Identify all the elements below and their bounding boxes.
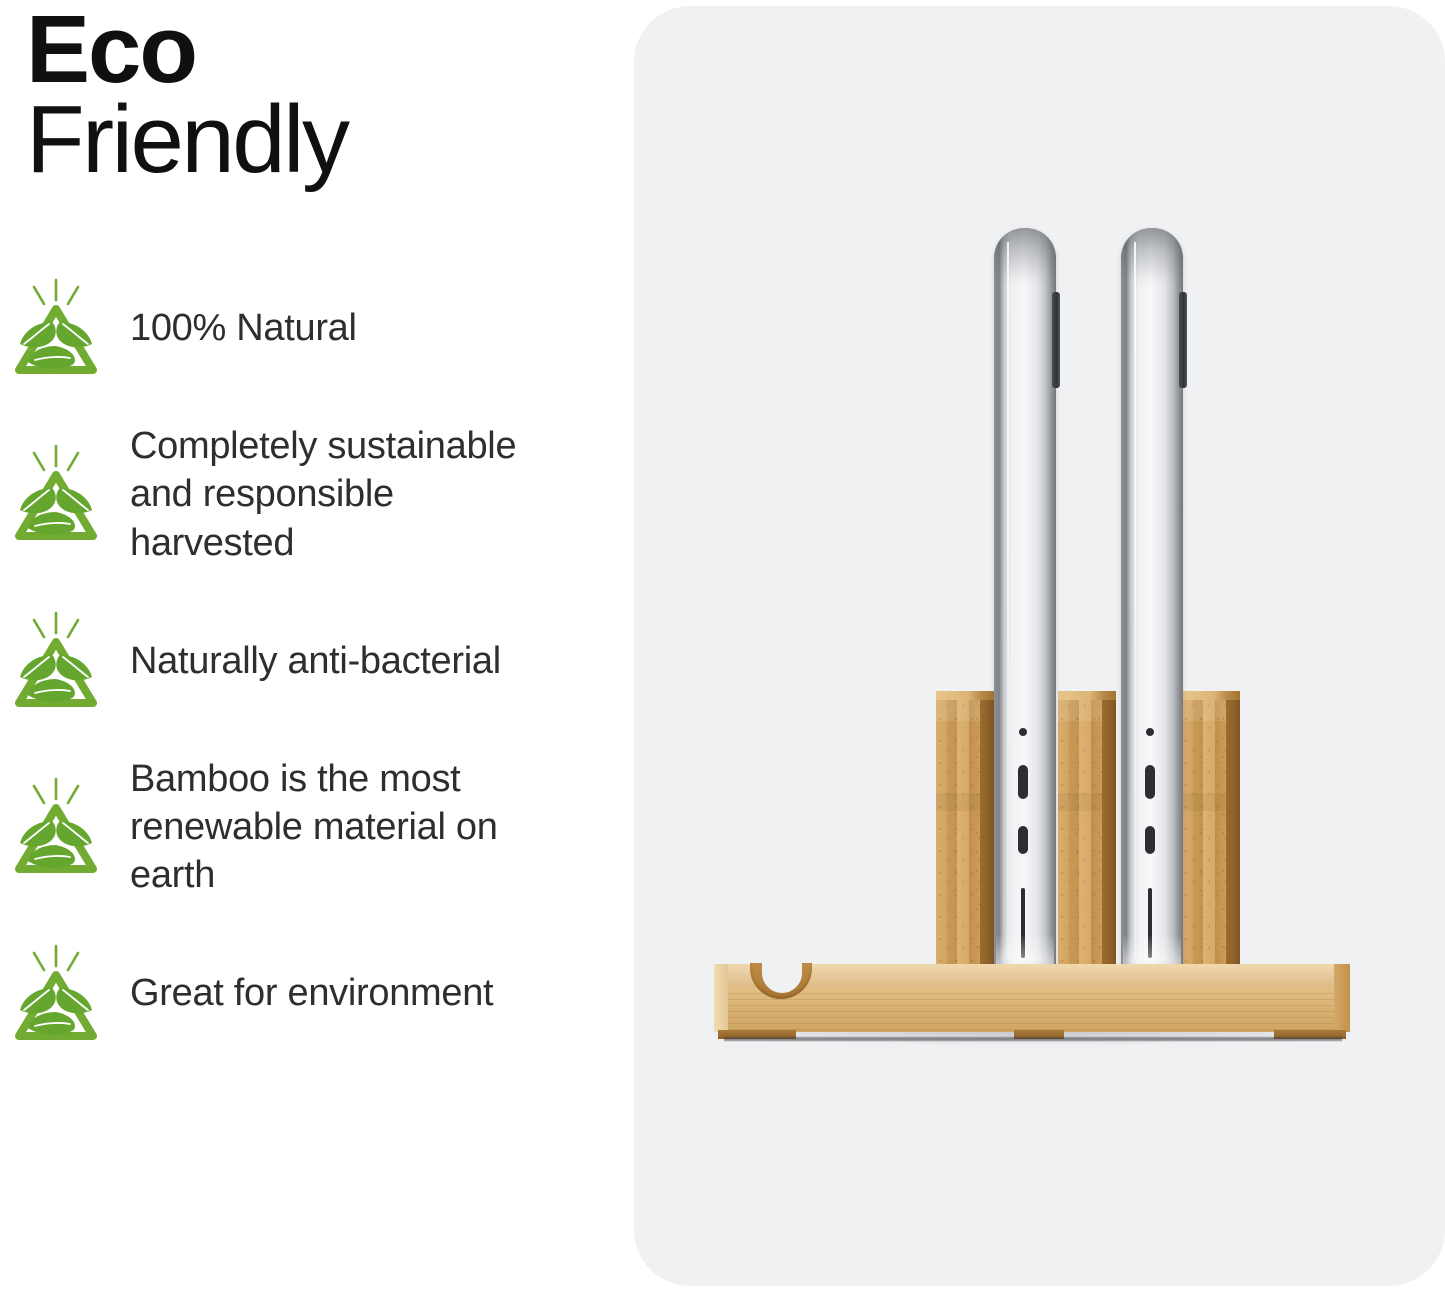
recycle-leaf-icon xyxy=(8,278,104,378)
phone-edge-seam xyxy=(1007,242,1009,960)
stand-divider-right xyxy=(1182,691,1240,991)
features-column: Eco Friendly xyxy=(0,0,620,1293)
phone-side-button xyxy=(1179,292,1187,388)
divider-side-face xyxy=(1226,691,1240,991)
stand-divider-middle xyxy=(1058,691,1116,991)
stand-base xyxy=(714,964,1350,1032)
product-feature-graphic: Eco Friendly xyxy=(0,0,1445,1293)
phone-port-slot-lower xyxy=(1018,826,1028,854)
divider-top-edge xyxy=(1058,691,1116,700)
divider-top-edge xyxy=(936,691,994,700)
list-item-label: Completely sustainable and responsible h… xyxy=(130,422,560,567)
list-item: Bamboo is the most renewable material on… xyxy=(0,755,620,900)
list-item: Naturally anti-bacterial xyxy=(0,611,620,711)
divider-side-face xyxy=(1102,691,1116,991)
divider-top-edge xyxy=(1182,691,1240,700)
phone-mic-hole xyxy=(1146,728,1154,736)
phone-body xyxy=(994,228,1056,980)
phone-port-slot-lower xyxy=(1145,826,1155,854)
page-title: Eco Friendly xyxy=(26,6,347,185)
phone-port-slot-upper xyxy=(1018,765,1028,799)
list-item: Completely sustainable and responsible h… xyxy=(0,422,620,567)
list-item-label: Great for environment xyxy=(130,969,493,1017)
list-item: Great for environment xyxy=(0,944,620,1044)
recycle-leaf-icon xyxy=(8,444,104,544)
product-photo-panel xyxy=(634,6,1445,1286)
divider-grain-texture xyxy=(1182,691,1226,991)
phone-top-chamfer xyxy=(1121,228,1183,288)
phone-mic-hole xyxy=(1019,728,1027,736)
base-right-end-grain xyxy=(1334,964,1350,1032)
title-line-1: Eco xyxy=(26,6,347,94)
base-front-face xyxy=(714,988,1350,1032)
phone-port-slot-upper xyxy=(1145,765,1155,799)
phone-right xyxy=(1121,228,1183,980)
stand-divider-left xyxy=(936,691,994,991)
phone-side-button xyxy=(1052,292,1060,388)
phone-top-chamfer xyxy=(994,228,1056,288)
phone-edge-seam xyxy=(1134,242,1136,960)
list-item: 100% Natural xyxy=(0,278,620,378)
feature-list: 100% Natural xyxy=(0,278,620,1044)
product-scene xyxy=(634,6,1445,1286)
recycle-leaf-icon xyxy=(8,611,104,711)
title-line-2: Friendly xyxy=(26,96,347,184)
base-contact-shadow xyxy=(724,1037,1342,1041)
recycle-leaf-icon xyxy=(8,777,104,877)
list-item-label: 100% Natural xyxy=(130,304,357,352)
recycle-leaf-icon xyxy=(8,944,104,1044)
phone-body xyxy=(1121,228,1183,980)
divider-grain-texture xyxy=(936,691,980,991)
list-item-label: Bamboo is the most renewable material on… xyxy=(130,755,560,900)
divider-side-face xyxy=(980,691,994,991)
phone-left xyxy=(994,228,1056,980)
divider-grain-texture xyxy=(1058,691,1102,991)
list-item-label: Naturally anti-bacterial xyxy=(130,637,501,685)
base-left-end-grain xyxy=(714,964,728,1032)
